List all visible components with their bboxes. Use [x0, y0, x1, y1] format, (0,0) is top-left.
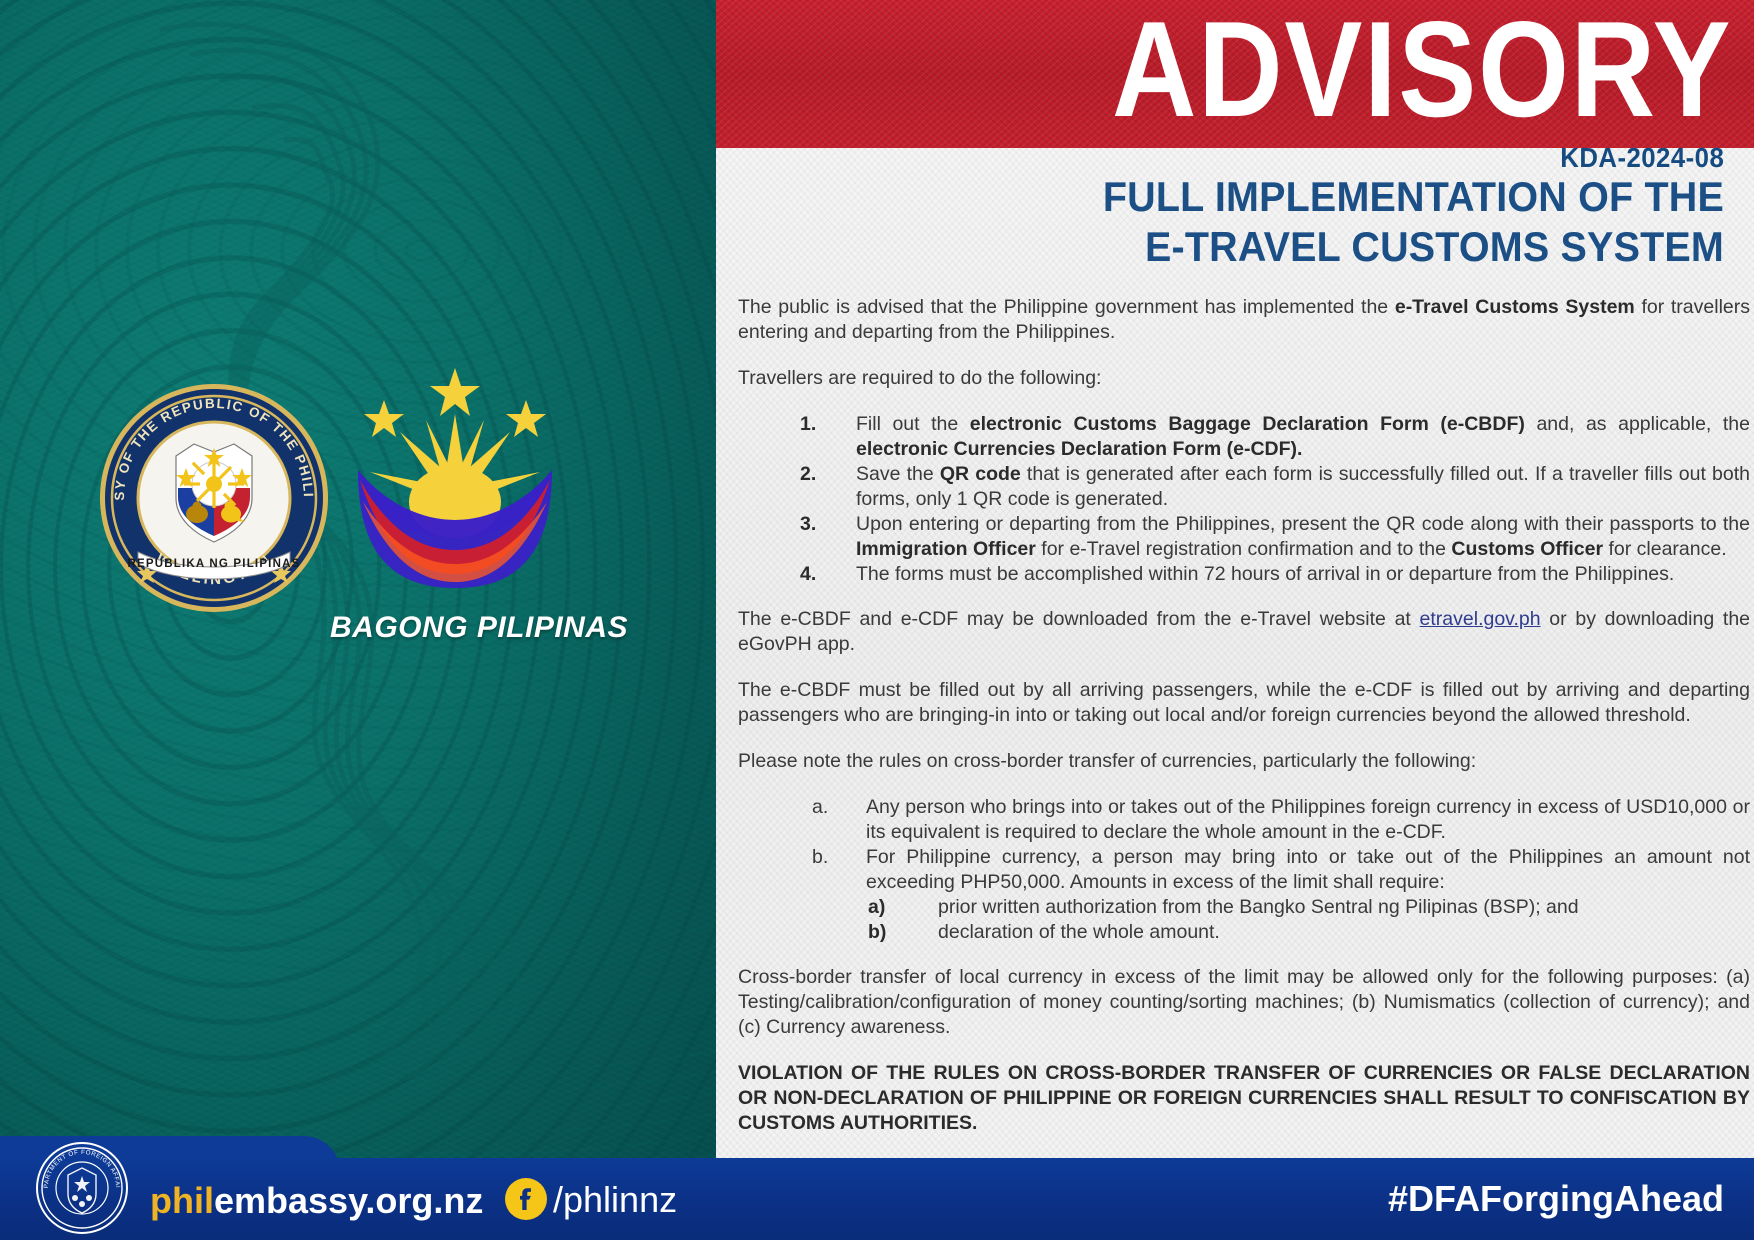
- facebook-icon[interactable]: [505, 1178, 547, 1220]
- subrule-text: declaration of the whole amount.: [938, 921, 1220, 943]
- subrule-marker: b): [868, 920, 914, 945]
- step-text-1: Fill out the: [856, 413, 970, 435]
- step-bold-2: Customs Officer: [1451, 538, 1603, 560]
- headline-line-1: FULL IMPLEMENTATION OF THE: [878, 172, 1724, 222]
- advisory-title: ADVISORY: [1112, 0, 1732, 144]
- list-item: a)prior written authorization from the B…: [866, 895, 1750, 920]
- steps-list: 1.Fill out the electronic Customs Baggag…: [738, 412, 1750, 587]
- advisory-body: The public is advised that the Philippin…: [724, 295, 1754, 1136]
- list-item: 1.Fill out the electronic Customs Baggag…: [738, 412, 1750, 462]
- rule-marker: a.: [812, 795, 852, 820]
- intro-paragraph: The public is advised that the Philippin…: [738, 295, 1750, 345]
- bagong-pilipinas-label: BAGONG PILIPINAS: [330, 611, 580, 645]
- subrule-text: prior written authorization from the Ban…: [938, 896, 1579, 918]
- step-text-1: Upon entering or departing from the Phil…: [856, 513, 1750, 535]
- headline-line-2: E-TRAVEL CUSTOMS SYSTEM: [878, 222, 1724, 272]
- step-text-1: The forms must be accomplished within 72…: [856, 563, 1674, 585]
- step-text-1: Save the: [856, 463, 940, 485]
- rule-marker: b.: [812, 845, 852, 870]
- embassy-seal: EMBASSY OF THE REPUBLIC OF THE PHILIPPIN…: [98, 382, 330, 614]
- list-item: 3.Upon entering or departing from the Ph…: [738, 512, 1750, 562]
- currency-rules-sublist: a)prior written authorization from the B…: [866, 895, 1750, 945]
- footer-facebook-handle[interactable]: /phlinnz: [553, 1179, 677, 1221]
- rule-text: For Philippine currency, a person may br…: [866, 846, 1750, 893]
- dfa-seal-icon: DEPARTMENT OF FOREIGN AFFAIRS: [36, 1142, 128, 1234]
- intro-text-1: The public is advised that the Philippin…: [738, 296, 1395, 318]
- step-text-3: for clearance.: [1603, 538, 1727, 560]
- left-decorative-panel: EMBASSY OF THE REPUBLIC OF THE PHILIPPIN…: [0, 0, 716, 1240]
- footer-website[interactable]: philembassy.org.nz: [150, 1180, 483, 1222]
- download-text-before: The e-CBDF and e-CDF may be downloaded f…: [738, 608, 1420, 630]
- step-bold-1: Immigration Officer: [856, 538, 1036, 560]
- step-text-2: for e-Travel registration confirmation a…: [1036, 538, 1451, 560]
- rule-text: Any person who brings into or takes out …: [866, 796, 1750, 843]
- ecbdf-paragraph: The e-CBDF must be filled out by all arr…: [738, 678, 1750, 728]
- seal-ribbon-text: REPUBLIKA NG PILIPINAS: [128, 558, 301, 570]
- rules-lead-paragraph: Please note the rules on cross-border tr…: [738, 749, 1750, 774]
- right-content-panel: ADVISORY KDA-2024-08 FULL IMPLEMENTATION…: [716, 0, 1754, 1240]
- footer-bar: DEPARTMENT OF FOREIGN AFFAIRS philembass…: [0, 1158, 1754, 1240]
- intro-bold: e-Travel Customs System: [1395, 296, 1635, 318]
- step-marker: 2.: [800, 462, 840, 487]
- advisory-banner: ADVISORY: [716, 0, 1754, 148]
- list-item: 2.Save the QR code that is generated aft…: [738, 462, 1750, 512]
- subrule-marker: a): [868, 895, 914, 920]
- list-item: 4.The forms must be accomplished within …: [738, 562, 1750, 587]
- step-text-2: and, as applicable, the: [1525, 413, 1750, 435]
- step-marker: 3.: [800, 512, 840, 537]
- list-item: a.Any person who brings into or takes ou…: [738, 795, 1750, 845]
- advisory-reference-number: KDA-2024-08: [1560, 142, 1724, 174]
- violation-warning: VIOLATION OF THE RULES ON CROSS-BORDER T…: [738, 1061, 1750, 1136]
- currency-rules-list: a.Any person who brings into or takes ou…: [738, 795, 1750, 945]
- page-title: FULL IMPLEMENTATION OF THE E-TRAVEL CUST…: [878, 172, 1724, 272]
- footer-hashtag: #DFAForgingAhead: [1388, 1178, 1724, 1220]
- step-bold-2: electronic Currencies Declaration Form (…: [856, 438, 1302, 460]
- etravel-website-link[interactable]: etravel.gov.ph: [1420, 608, 1541, 630]
- step-marker: 1.: [800, 412, 840, 437]
- download-paragraph: The e-CBDF and e-CDF may be downloaded f…: [738, 607, 1750, 657]
- step-bold-1: electronic Customs Baggage Declaration F…: [970, 413, 1525, 435]
- requirements-lead: Travellers are required to do the follow…: [738, 366, 1750, 391]
- footer-website-rest: embassy.org.nz: [214, 1180, 483, 1221]
- advisory-poster: EMBASSY OF THE REPUBLIC OF THE PHILIPPIN…: [0, 0, 1754, 1240]
- list-item: b)declaration of the whole amount.: [866, 920, 1750, 945]
- crossborder-paragraph: Cross-border transfer of local currency …: [738, 965, 1750, 1040]
- bagong-pilipinas-logo: [330, 352, 580, 592]
- list-item: b.For Philippine currency, a person may …: [738, 845, 1750, 945]
- footer-website-prefix: phil: [150, 1180, 214, 1221]
- step-marker: 4.: [800, 562, 840, 587]
- step-bold-1: QR code: [940, 463, 1021, 485]
